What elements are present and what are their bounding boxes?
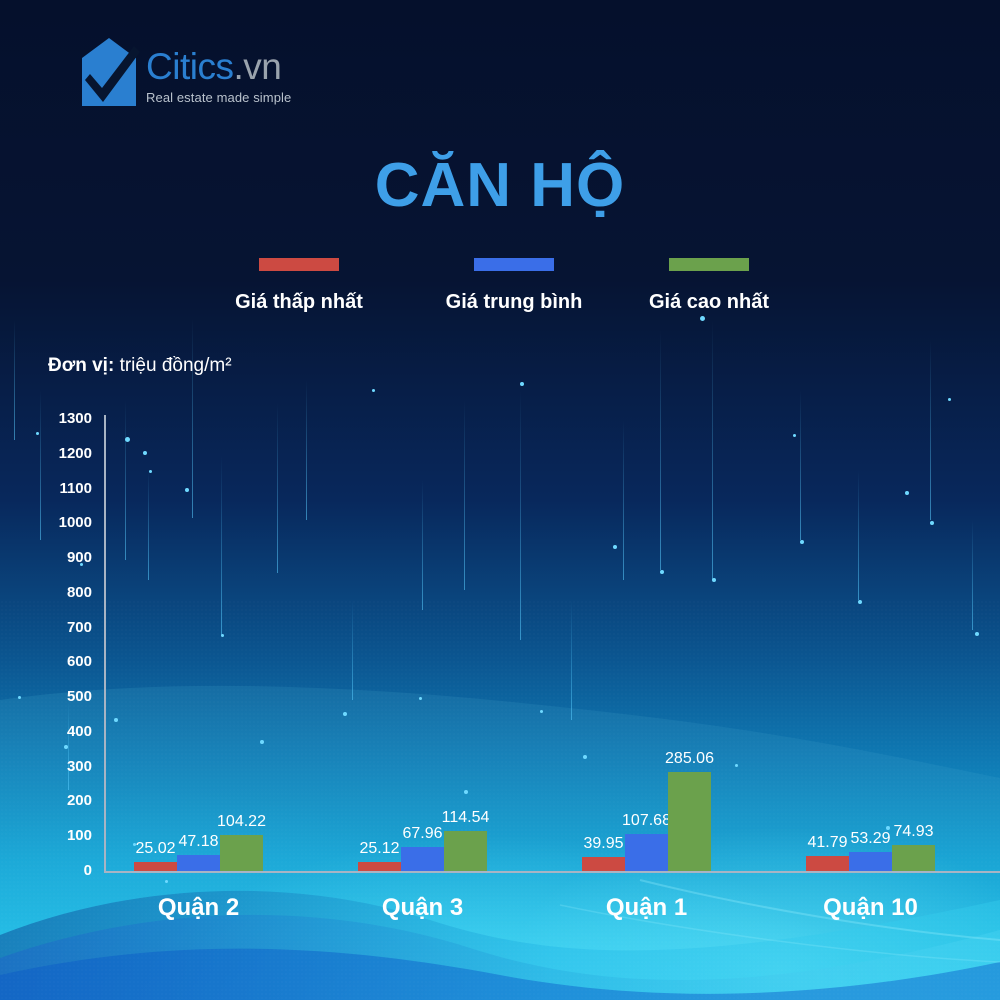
y-axis-tick-1200: 1200 <box>28 445 92 462</box>
y-axis-line <box>104 415 106 873</box>
x-axis-line <box>104 871 1000 873</box>
bar-0-0[interactable] <box>134 862 177 871</box>
y-axis-tick-500: 500 <box>28 688 92 705</box>
bar-3-0[interactable] <box>806 856 849 871</box>
x-axis-label-1: Quận 3 <box>323 894 523 922</box>
bar-3-1[interactable] <box>849 852 892 871</box>
bar-value-label-2-2: 285.06 <box>645 750 735 768</box>
y-axis-tick-800: 800 <box>28 584 92 601</box>
y-axis-tick-100: 100 <box>28 827 92 844</box>
y-axis-tick-1000: 1000 <box>28 514 92 531</box>
bar-1-1[interactable] <box>401 847 444 871</box>
bar-value-label-0-2: 104.22 <box>197 813 287 831</box>
bar-value-label-1-2: 114.54 <box>421 809 511 827</box>
x-axis-label-0: Quận 2 <box>99 894 299 922</box>
x-axis-label-3: Quận 10 <box>771 894 971 922</box>
bar-0-2[interactable] <box>220 835 263 871</box>
y-axis-tick-1100: 1100 <box>28 480 92 497</box>
bar-2-2[interactable] <box>668 772 711 871</box>
bar-3-2[interactable] <box>892 845 935 871</box>
y-axis-tick-700: 700 <box>28 619 92 636</box>
x-axis-label-2: Quận 1 <box>547 894 747 922</box>
bar-2-1[interactable] <box>625 834 668 871</box>
y-axis-tick-300: 300 <box>28 758 92 775</box>
bar-1-0[interactable] <box>358 862 401 871</box>
y-axis-tick-0: 0 <box>28 862 92 879</box>
bar-2-0[interactable] <box>582 857 625 871</box>
bar-value-label-3-2: 74.93 <box>869 823 959 841</box>
bar-0-1[interactable] <box>177 855 220 871</box>
y-axis-tick-1300: 1300 <box>28 410 92 427</box>
bar-chart: 1300120011001000900800700600500400300200… <box>0 0 1000 1000</box>
y-axis-tick-900: 900 <box>28 549 92 566</box>
y-axis-tick-600: 600 <box>28 653 92 670</box>
bar-1-2[interactable] <box>444 831 487 871</box>
y-axis-tick-200: 200 <box>28 792 92 809</box>
infographic-root: Citics.vn Real estate made simple CĂN HỘ… <box>0 0 1000 1000</box>
y-axis-tick-400: 400 <box>28 723 92 740</box>
